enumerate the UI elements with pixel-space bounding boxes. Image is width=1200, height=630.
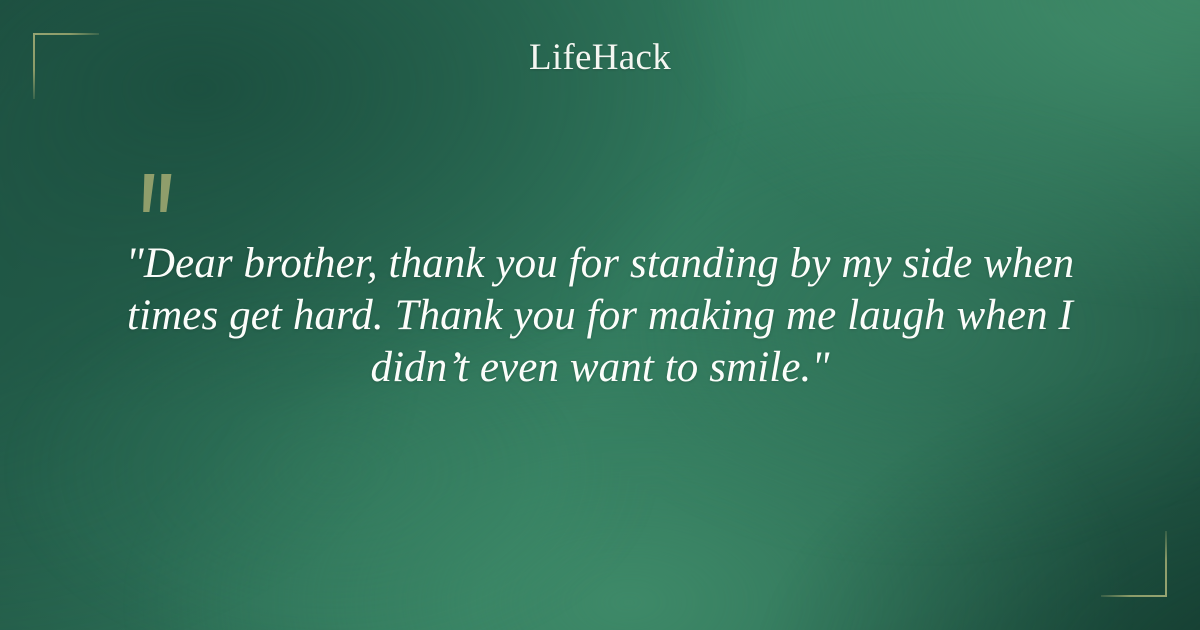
brand-logo: LifeHack: [0, 39, 1200, 76]
quote-block: "Dear brother, thank you for standing by…: [120, 238, 1080, 394]
brand-name-text: LifeHack: [529, 39, 671, 76]
quote-text: "Dear brother, thank you for standing by…: [120, 238, 1080, 394]
quotation-mark-icon: [132, 170, 192, 226]
quote-card: LifeHack "Dear brother, thank you for st…: [0, 0, 1200, 630]
